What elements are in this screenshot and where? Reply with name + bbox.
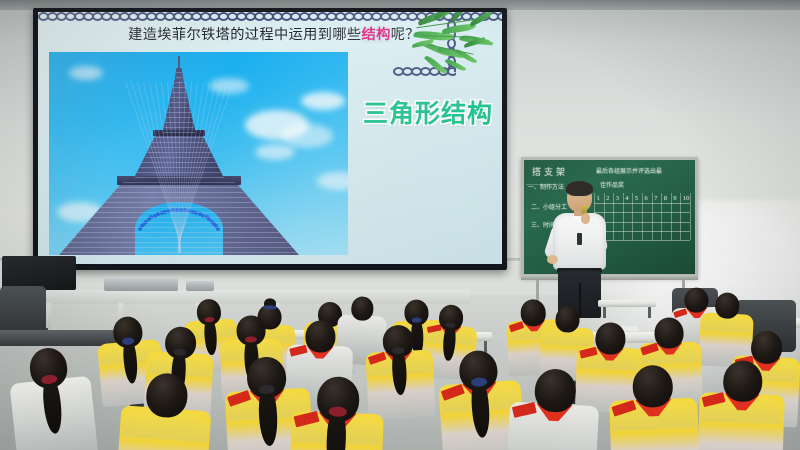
teacher-right-hand	[581, 213, 590, 224]
monitor	[2, 256, 76, 290]
projection-screen: 建造埃菲尔铁塔的过程中运用到哪些结构呢？ 三角形结构	[38, 12, 502, 264]
teacher-left-hand	[547, 255, 558, 264]
student-desk	[598, 300, 656, 307]
slide-title: 建造埃菲尔铁塔的过程中运用到哪些结构呢？	[38, 24, 502, 44]
projection-screen-frame: 建造埃菲尔铁塔的过程中运用到哪些结构呢？ 三角形结构	[33, 8, 507, 270]
blackboard-grid-header: 8	[664, 195, 667, 202]
blackboard-title: 搭支架	[532, 165, 568, 178]
hair-tie	[263, 305, 276, 309]
student-head	[684, 287, 709, 313]
teacher-lanyard	[577, 233, 582, 245]
blackboard-grid-header: 6	[645, 195, 648, 202]
slide-title-text-before: 建造埃菲尔铁塔的过程中运用到哪些	[128, 27, 361, 43]
teacher	[548, 183, 610, 318]
blackboard-grid-header: 10	[683, 195, 690, 202]
desk-equipment-2	[186, 281, 214, 291]
slide-title-text-after: 呢？	[391, 27, 420, 43]
blackboard-grid-header: 9	[673, 195, 676, 202]
teacher-hair	[566, 181, 593, 196]
blackboard-grid-header: 4	[625, 195, 628, 202]
student-head	[520, 299, 547, 327]
eiffel-tower-photo	[49, 52, 348, 255]
blackboard-grid-header: 3	[616, 195, 619, 202]
presentation-slide: 建造埃菲尔铁塔的过程中运用到哪些结构呢？ 三角形结构	[38, 12, 502, 264]
teacher-leg-split	[579, 283, 581, 318]
student-head	[723, 360, 763, 402]
slide-title-highlight: 结构	[362, 27, 391, 43]
classroom-screenshot: 建造埃菲尔铁塔的过程中运用到哪些结构呢？ 三角形结构 搭支架 一、制作方法 二、…	[0, 0, 800, 450]
blackboard-stand-left	[536, 280, 539, 302]
student-head	[305, 320, 336, 353]
blackboard-grid-header: 5	[635, 195, 638, 202]
blackboard-heading-line-1: 最后各组展示并评选出最	[596, 166, 662, 175]
student-head	[654, 317, 684, 349]
front-counter	[0, 290, 470, 304]
bamboo-leaves-decoration	[412, 13, 498, 77]
desk-leg	[648, 307, 651, 318]
desk-leg	[603, 307, 606, 318]
blackboard-grid-header: 7	[654, 195, 657, 202]
desk-equipment-1	[104, 278, 178, 291]
slide-headline: 三角形结构	[354, 100, 502, 129]
student-head	[595, 322, 626, 355]
